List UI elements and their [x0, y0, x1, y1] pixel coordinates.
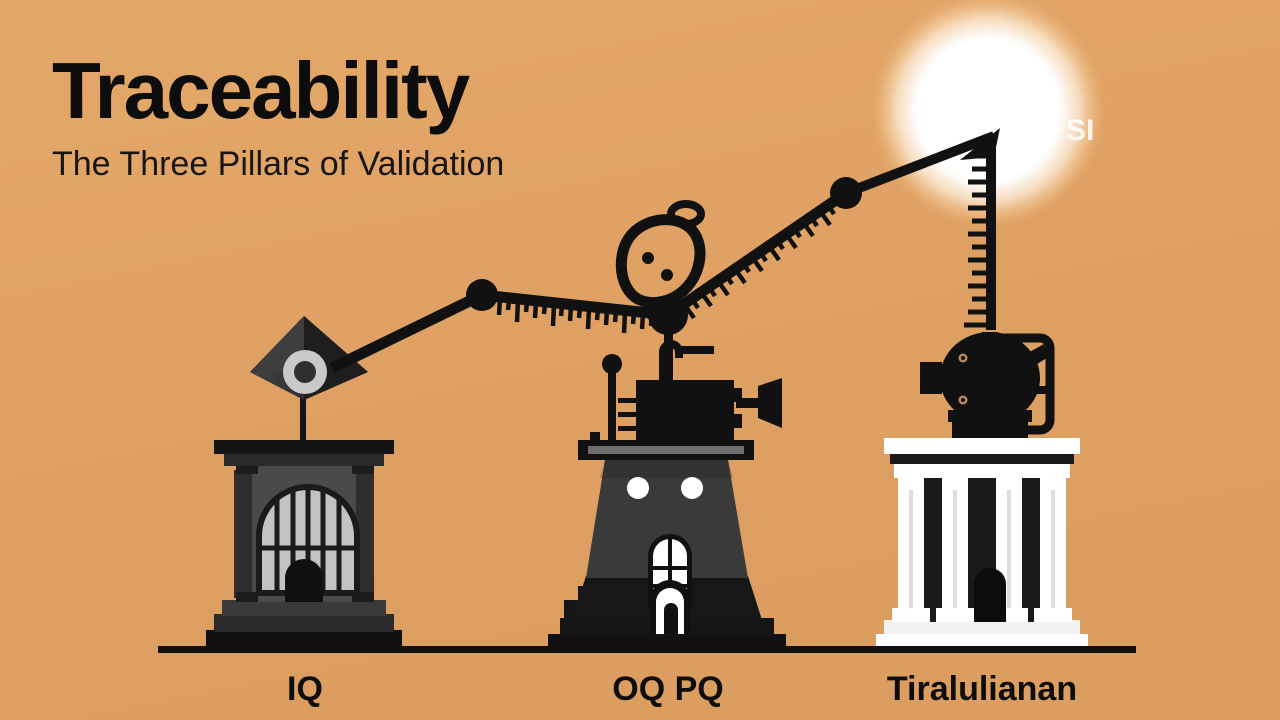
poster-canvas: SI: [0, 0, 1280, 720]
pillar-label-oq-pq: OQ PQ: [612, 670, 723, 708]
sun-label: SI: [1066, 114, 1094, 147]
chain-node-left: [466, 279, 498, 311]
chain-node-center: [648, 295, 688, 335]
pillar-label-iq: IQ: [287, 670, 323, 708]
page-title: Traceability: [52, 46, 471, 135]
page-subtitle: The Three Pillars of Validation: [52, 145, 504, 183]
pillar-label-standard: Tiralulianan: [887, 670, 1077, 708]
traceability-illustration: SI: [0, 0, 1280, 720]
chain-node-right: [830, 177, 862, 209]
